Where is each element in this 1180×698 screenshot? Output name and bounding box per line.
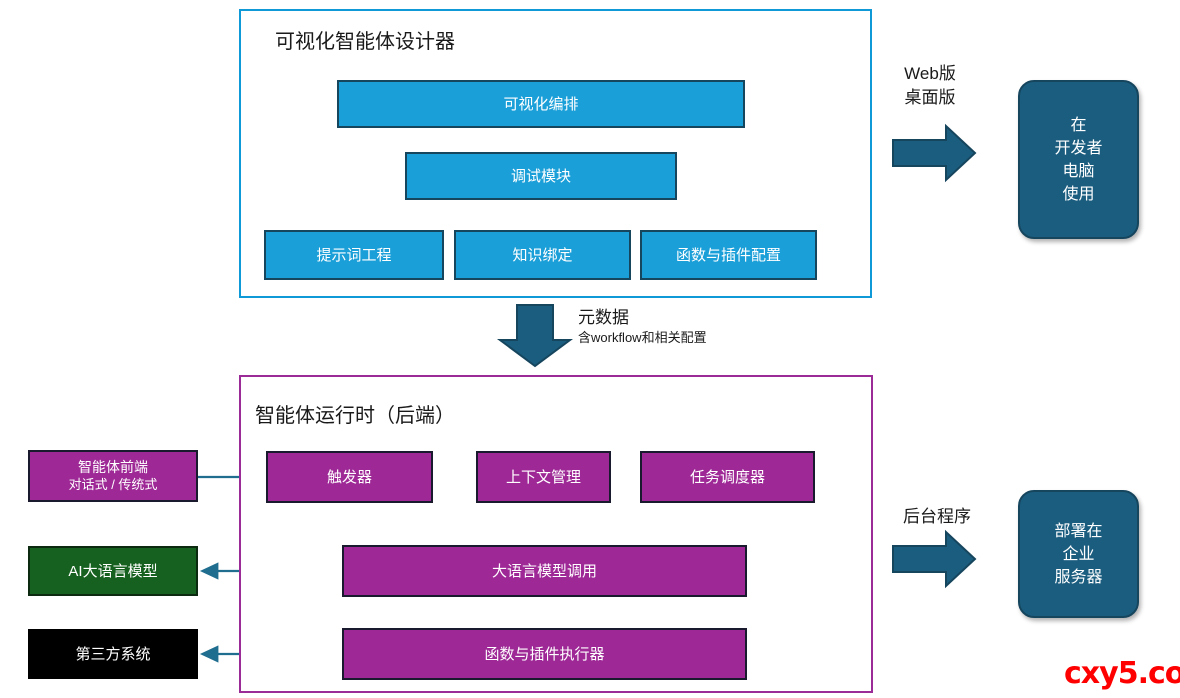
metadata-subtitle: 含workflow和相关配置 (578, 329, 707, 347)
node-agent-frontend[interactable]: 智能体前端 对话式 / 传统式 (28, 450, 198, 502)
developer-machine-line3: 电脑 (1062, 160, 1094, 183)
node-knowledge-binding[interactable]: 知识绑定 (454, 230, 631, 280)
metadata-title: 元数据 (578, 306, 707, 329)
agent-frontend-line2: 对话式 / 传统式 (69, 476, 158, 493)
node-prompt-engineering[interactable]: 提示词工程 (264, 230, 444, 280)
node-function-plugin-executor[interactable]: 函数与插件执行器 (342, 628, 747, 680)
diagram-canvas: 可视化智能体设计器 可视化编排 调试模块 提示词工程 知识绑定 函数与插件配置 … (0, 0, 1180, 698)
backend-deploy-label: 后台程序 (888, 505, 986, 529)
runtime-title: 智能体运行时（后端） (255, 404, 455, 428)
web-deploy-label-line1: Web版 (890, 62, 970, 86)
node-developer-machine[interactable]: 在 开发者 电脑 使用 (1018, 80, 1139, 239)
backend-deploy-arrow (893, 532, 975, 586)
developer-machine-line2: 开发者 (1054, 137, 1102, 160)
node-debug-module[interactable]: 调试模块 (405, 152, 677, 200)
site-watermark: cxy5.com (1064, 658, 1180, 690)
node-enterprise-server[interactable]: 部署在 企业 服务器 (1018, 490, 1139, 618)
web-deploy-label-line2: 桌面版 (890, 86, 970, 110)
developer-machine-line4: 使用 (1062, 183, 1094, 206)
node-function-plugin-config[interactable]: 函数与插件配置 (640, 230, 817, 280)
node-third-party-system[interactable]: 第三方系统 (28, 629, 198, 679)
enterprise-server-line1: 部署在 (1054, 520, 1102, 543)
web-deploy-label: Web版 桌面版 (890, 62, 970, 110)
web-deploy-arrow (893, 126, 975, 180)
node-context-management[interactable]: 上下文管理 (476, 451, 611, 503)
backend-deploy-label-line1: 后台程序 (888, 505, 986, 529)
node-trigger[interactable]: 触发器 (266, 451, 433, 503)
developer-machine-line1: 在 (1070, 114, 1086, 137)
designer-title: 可视化智能体设计器 (275, 30, 455, 54)
agent-frontend-line1: 智能体前端 (78, 459, 148, 476)
metadata-down-arrow (500, 305, 570, 366)
node-task-scheduler[interactable]: 任务调度器 (640, 451, 815, 503)
node-visual-orchestration[interactable]: 可视化编排 (337, 80, 745, 128)
node-ai-llm[interactable]: AI大语言模型 (28, 546, 198, 596)
metadata-label: 元数据 含workflow和相关配置 (578, 306, 707, 347)
enterprise-server-line2: 企业 (1062, 543, 1094, 566)
enterprise-server-line3: 服务器 (1054, 566, 1102, 589)
node-llm-invocation[interactable]: 大语言模型调用 (342, 545, 747, 597)
